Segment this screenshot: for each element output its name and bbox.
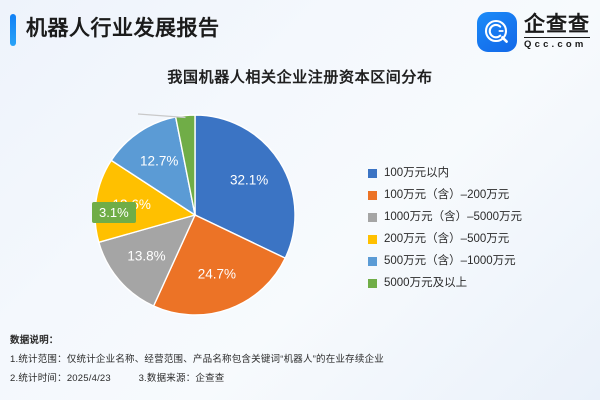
legend-swatch-icon [368,279,377,288]
legend-swatch-icon [368,257,377,266]
pie-slice-label: 12.7% [140,154,178,169]
pie-chart: 32.1%24.7%13.8%13.6%12.7% 3.1% [0,96,360,332]
footer-note-1: 1.统计范围：仅统计企业名称、经营范围、产品名称包含关键词“机器人”的在业存续企… [10,350,590,369]
legend-item[interactable]: 500万元（含）–1000万元 [368,250,593,272]
legend-swatch-icon [368,169,377,178]
legend-swatch-icon [368,191,377,200]
footer-note-2: 2.统计时间：2025/4/23 3.数据来源：企查查 [10,369,590,388]
chart-legend: 100万元以内100万元（含）–200万元1000万元（含）–5000万元200… [368,162,593,294]
legend-item-label: 100万元以内 [384,166,449,180]
legend-item[interactable]: 100万元（含）–200万元 [368,184,593,206]
legend-item-label: 500万元（含）–1000万元 [384,254,516,268]
footer-notes: 数据说明： 1.统计范围：仅统计企业名称、经营范围、产品名称包含关键词“机器人”… [10,332,590,388]
legend-item[interactable]: 100万元以内 [368,162,593,184]
footer-heading: 数据说明： [10,332,590,350]
legend-item[interactable]: 200万元（含）–500万元 [368,228,593,250]
brand-logo-text: 企查查 Qcc.com [524,14,590,51]
legend-item-label: 5000万元及以上 [384,276,467,290]
pie-slice-label: 13.8% [127,248,165,263]
brand-name-cn: 企查查 [524,14,590,36]
brand-logo: 企查查 Qcc.com [477,11,590,53]
legend-item[interactable]: 1000万元（含）–5000万元 [368,206,593,228]
legend-item[interactable]: 5000万元及以上 [368,272,593,294]
pie-slice-label: 32.1% [230,172,268,187]
legend-swatch-icon [368,235,377,244]
chart-title: 我国机器人相关企业注册资本区间分布 [0,66,600,87]
brand-name-en: Qcc.com [524,37,590,51]
legend-item-label: 100万元（含）–200万元 [384,188,509,202]
legend-swatch-icon [368,213,377,222]
qcc-logo-icon [477,12,517,52]
footer-note-2-time: 2.统计时间：2025/4/23 [10,373,111,384]
callout-label-3-1: 3.1% [92,202,136,223]
page-title: 机器人行业发展报告 [26,13,220,45]
footer-note-2-source: 3.数据来源：企查查 [139,373,225,384]
legend-item-label: 200万元（含）–500万元 [384,232,509,246]
page-header: 机器人行业发展报告 企查查 Qcc.com [0,0,600,62]
legend-item-label: 1000万元（含）–5000万元 [384,210,522,224]
pie-chart-svg: 32.1%24.7%13.8%13.6%12.7% [0,96,360,332]
pie-slice-label: 24.7% [198,267,236,282]
title-accent-bar [10,14,16,46]
